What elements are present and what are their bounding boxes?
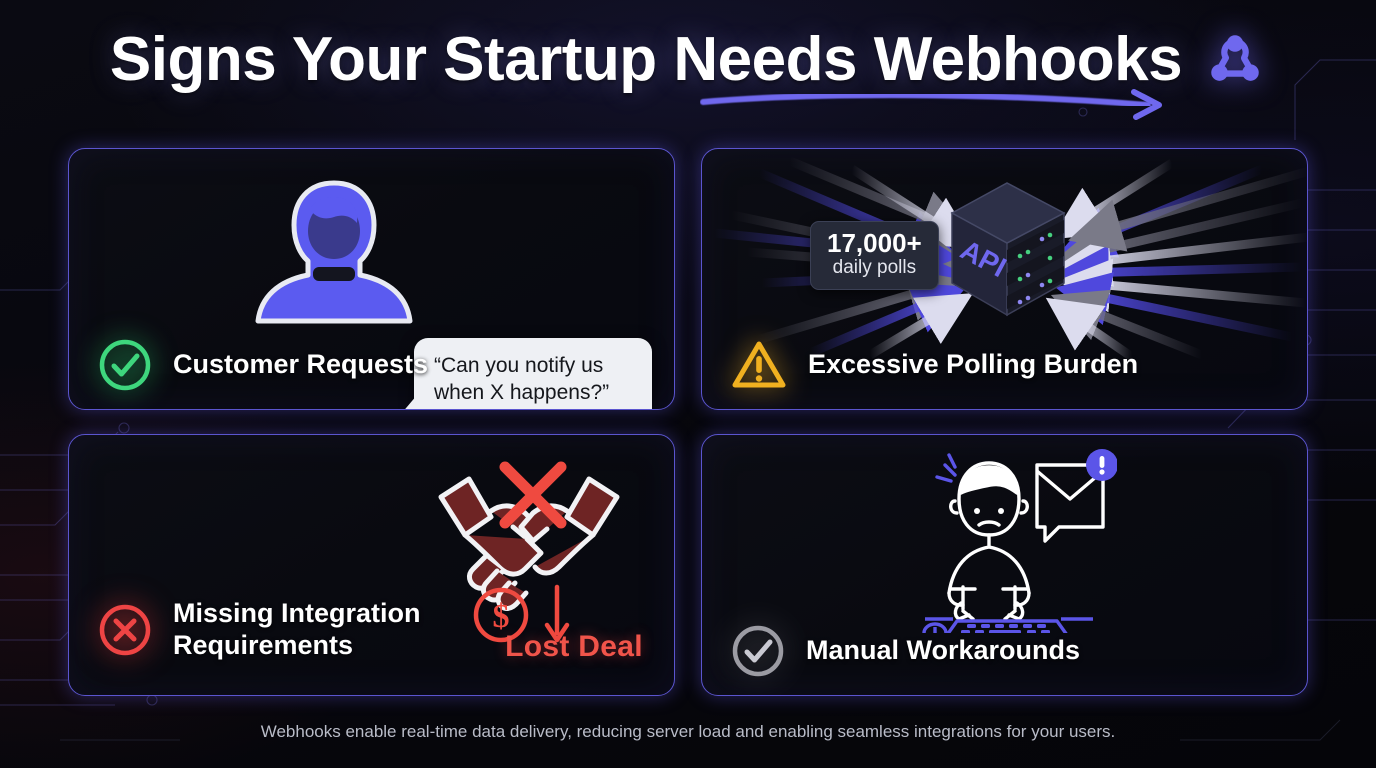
card-title-line-2: Requirements [173,630,421,662]
lost-deal-caption: Lost Deal [474,630,674,664]
polls-count: 17,000+ [827,230,922,257]
page-header: Signs Your Startup Needs Webhooks [0,24,1376,95]
card-label-excessive-polling: Excessive Polling Burden [730,337,1138,393]
arrow-underline-icon [700,86,1170,120]
card-title: Customer Requests [173,349,428,381]
check-circle-icon [730,623,786,679]
card-missing-integration-requirements[interactable]: $ Lost Deal Missing Integration Requirem… [68,434,675,696]
person-avatar-icon [249,171,419,351]
card-title-line-1: Missing Integration [173,598,421,630]
x-circle-icon [97,602,153,658]
card-label-manual-workarounds: Manual Workarounds [730,623,1080,679]
footer-note: Webhooks enable real-time data delivery,… [0,722,1376,742]
card-title: Missing Integration Requirements [173,598,421,662]
card-customer-requests[interactable]: “Can you notify us when X happens?” Cust… [68,148,675,410]
api-server-cube-icon: API [952,183,1064,315]
speech-bubble: “Can you notify us when X happens?” [414,338,652,410]
frustrated-typist-icon [897,443,1117,633]
card-manual-workarounds[interactable]: Manual Workarounds [701,434,1308,696]
card-title: Excessive Polling Burden [808,349,1138,381]
polling-arrows-diagram-icon: API [702,155,1308,365]
card-excessive-polling-burden[interactable]: API 17, [701,148,1308,410]
webhook-icon [1204,29,1266,91]
quote-line-2: when X happens?” [434,380,634,407]
card-label-customer-requests: Customer Requests [97,337,428,393]
check-circle-icon [97,337,153,393]
card-title: Manual Workarounds [806,635,1080,667]
page-title: Signs Your Startup Needs Webhooks [110,24,1182,95]
signs-card-grid: “Can you notify us when X happens?” Cust… [68,148,1308,696]
infographic-canvas: Signs Your Startup Needs Webhooks [0,0,1376,768]
warning-triangle-icon [730,337,788,393]
card-label-missing-integration: Missing Integration Requirements [97,598,421,662]
polls-caption: daily polls [827,257,922,279]
daily-polls-badge: 17,000+ daily polls [810,221,939,290]
quote-line-1: “Can you notify us [434,353,634,380]
